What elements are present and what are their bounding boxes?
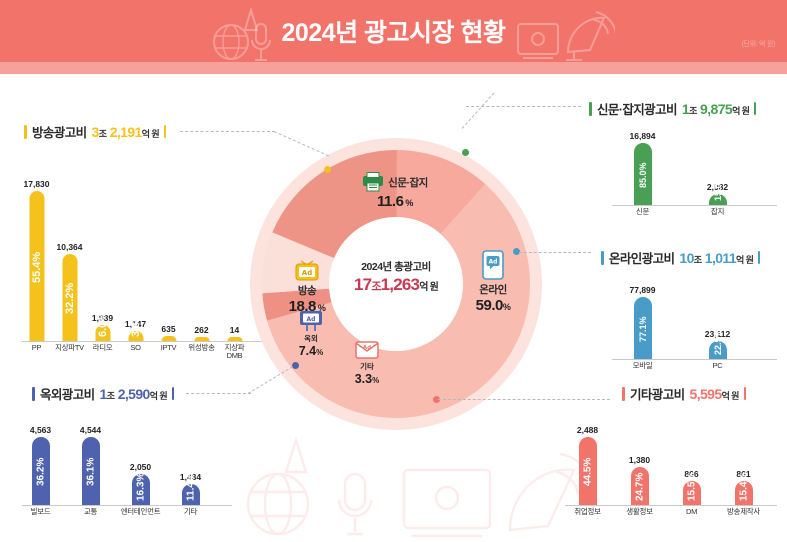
press-pct-value: 11.6 [377, 193, 403, 210]
chart-axis [565, 505, 777, 506]
chart-axis [22, 341, 262, 342]
bar-category-label: SO [130, 344, 140, 352]
bar-pct-label: 15.5% [686, 487, 697, 501]
donut-center-value: 17조1,263억 원 [329, 275, 463, 295]
donut-label-broadcast-name: 방송 [268, 283, 346, 298]
bar-category-label: PC [713, 362, 723, 370]
bar-category-label: 엔터테인먼트 [121, 508, 161, 516]
donut-label-broadcast: Ad 방송 18.8 % [268, 258, 346, 315]
press-amount-main: 1 [682, 101, 689, 117]
bar-category-label: 라디오 [93, 344, 113, 352]
bar-pct-label: 16.3% [135, 480, 146, 501]
accent-bar-etc [622, 387, 625, 401]
bar-column[interactable]: 1,43411.4%기타 [190, 414, 191, 519]
donut-label-outdoor-pct: 7.4% [280, 344, 342, 358]
broadcast-amount-rest: 2,191 [110, 124, 142, 140]
leader-broadcast-h [180, 131, 275, 132]
etc-title-text: 기타광고비 [630, 384, 685, 403]
bar-category-label: 지상파DMB [225, 344, 245, 360]
bar-category-label: PP [32, 344, 41, 352]
bar-column[interactable]: 4,56336.2%빌보드 [40, 414, 41, 519]
section-title-online: 온라인광고비 10조 1,011억 원 [601, 248, 760, 267]
press-amount-rest: 9,875 [700, 101, 732, 117]
accent-bar-outdoor [32, 387, 35, 401]
connector-dot-press [462, 149, 469, 156]
billboard-ad-icon: Ad [299, 310, 323, 332]
outdoor-title-text: 옥외광고비 [40, 384, 95, 403]
bar-category-label: 위성방송 [188, 344, 214, 352]
bar-category-label: 기타 [184, 508, 197, 516]
accent-endbar-etc [744, 387, 746, 400]
bar-value-label: 17,830 [24, 179, 50, 189]
bar-value-label: 4,563 [30, 425, 51, 435]
bar-pct-label: 85.0% [638, 149, 648, 201]
bar-category-label: DM [686, 508, 697, 516]
bar-pct-label: 36.1% [85, 443, 96, 501]
accent-bar-press [589, 102, 592, 116]
outdoor-pct-value: 7.4 [299, 344, 316, 358]
donut-center-label: 2024년 총광고비 [329, 259, 463, 274]
section-title-etc: 기타광고비 5,595억 원 [622, 384, 746, 403]
bar-column[interactable]: 2,98215.0%잡지 [717, 124, 718, 219]
accent-bar-broadcast [24, 125, 27, 139]
bar-category-label: IPTV [161, 344, 176, 352]
etc-amount-rest: 5,595 [690, 386, 722, 402]
bar-pct-label: 44.5% [582, 443, 593, 501]
page-title: 2024년 광고시장 현황 [0, 13, 787, 49]
online-amount-jo: 조 [694, 255, 702, 265]
bar-category-label: 빌보드 [31, 508, 51, 516]
header-accent-band [0, 62, 787, 74]
bar-rect[interactable] [194, 337, 209, 341]
connector-dot-outdoor [292, 362, 299, 369]
leader-online-h [519, 252, 591, 253]
chart-axis [22, 505, 232, 506]
bar-category-label: 신문 [636, 208, 649, 216]
press-title-text: 신문·잡지광고비 [597, 99, 677, 118]
bar-column[interactable]: 10,36432.2%지상파TV [69, 160, 70, 355]
leader-press-diag [462, 92, 495, 128]
donut-label-online-name: 온라인 [454, 282, 532, 297]
chart-outdoor: 4,56336.2%빌보드4,54436.1%교통2,05016.3%엔터테인먼… [22, 414, 232, 519]
press-amount-unit: 억 원 [732, 106, 749, 116]
bar-column[interactable]: 262위성방송 [201, 160, 202, 355]
bar-value-label: 635 [161, 324, 175, 334]
bar-pct-label: 32.2% [64, 260, 76, 337]
online-amount-rest: 1,011 [705, 250, 736, 266]
tv-ad-icon: Ad [294, 258, 320, 282]
donut-center: 2024년 총광고비 17조1,263억 원 [329, 217, 463, 351]
bar-value-label: 1,380 [629, 455, 650, 465]
donut-label-outdoor: Ad 옥외 7.4% [280, 310, 342, 358]
donut-value-jo: 조 [371, 281, 380, 293]
broadcast-amount-main: 3 [92, 124, 99, 140]
bar-value-label: 16,894 [630, 131, 656, 141]
online-pct-value: 59.0 [476, 297, 503, 314]
bar-pct-label: 15.4% [738, 487, 749, 501]
chart-axis [612, 205, 777, 206]
etc-amount-unit: 억 원 [722, 391, 739, 401]
bar-column[interactable]: 86615.5%DM [691, 414, 692, 519]
bar-column[interactable]: 1,38024.7%생활정보 [639, 414, 640, 519]
donut-label-outdoor-name: 옥외 [280, 333, 342, 344]
broadcast-title-text: 방송광고비 [32, 122, 87, 141]
chart-etc: 2,48844.5%취업정보1,38024.7%생활정보86615.5%DM86… [565, 414, 777, 519]
bar-value-label: 262 [194, 325, 208, 335]
unit-note: (단위: 억 원) [741, 39, 775, 49]
online-amount-unit: 억 원 [736, 255, 753, 265]
printer-ad-icon [362, 172, 384, 192]
broadcast-amount-jo: 조 [99, 129, 107, 139]
bar-column[interactable]: 6352.0%IPTV [168, 160, 169, 355]
donut-label-press: 신문·잡지 11.6 % [330, 172, 460, 210]
accent-endbar-online [758, 251, 760, 264]
accent-endbar-broadcast [164, 125, 166, 138]
bar-value-label: 2,050 [130, 462, 151, 472]
online-amount-main: 10 [679, 250, 693, 266]
bar-column[interactable]: 1,9396.0%라디오 [102, 160, 103, 355]
bar-column[interactable]: 2,48844.5%취업정보 [587, 414, 588, 519]
chart-axis [612, 359, 777, 360]
etc-pct-value: 3.3 [355, 372, 372, 386]
outdoor-amount-unit: 억 원 [150, 391, 167, 401]
bar-column[interactable]: 77,89977.1%모바일 [642, 278, 643, 373]
bar-category-label: 교통 [84, 508, 97, 516]
bar-pct-label: 24.7% [634, 473, 645, 501]
donut-value-rest: 1,263 [381, 275, 420, 294]
bar-value-label: 14 [230, 325, 239, 335]
donut-label-etc-pct: 3.3% [338, 372, 396, 386]
svg-text:Ad: Ad [489, 259, 498, 266]
bar-column[interactable]: 1,1473.6%SO [135, 160, 136, 355]
bar-column[interactable]: 17,83055.4%PP [36, 160, 37, 355]
online-title-text: 온라인광고비 [609, 248, 674, 267]
broadcast-amount-unit: 억 원 [142, 129, 159, 139]
bar-value-label: 77,899 [630, 285, 656, 295]
bar-pct-label: 6.0% [97, 331, 109, 337]
chart-press: 16,89485.0%신문2,98215.0%잡지 [612, 124, 777, 219]
page-header: 2024년 광고시장 현황 (단위: 억 원) [0, 0, 787, 62]
donut-label-online: Ad 온라인 59.0% [454, 250, 532, 314]
bar-rect[interactable] [227, 337, 242, 341]
bar-pct-label: 36.2% [35, 443, 46, 501]
bar-value-label: 4,544 [80, 425, 101, 435]
donut-label-etc: Ad 기타 3.3% [338, 340, 396, 386]
bar-column[interactable]: 16,89485.0%신문 [642, 124, 643, 219]
donut-label-online-pct: 59.0% [454, 297, 532, 314]
bar-column[interactable]: 14지상파DMB [234, 160, 235, 355]
bar-pct-label: 77.1% [638, 303, 648, 355]
leader-press-h [466, 106, 581, 107]
connector-dot-broadcast [324, 166, 331, 173]
bar-value-label: 2,488 [577, 425, 598, 435]
leader-etc-h [438, 399, 610, 400]
leader-outdoor-h [186, 393, 251, 394]
mail-ad-icon: Ad [355, 340, 379, 360]
outdoor-amount-jo: 조 [107, 391, 115, 401]
section-title-press: 신문·잡지광고비 1조 9,875억 원 [589, 99, 756, 118]
svg-text:Ad: Ad [302, 269, 312, 277]
donut-chart-total: 2024년 총광고비 17조1,263억 원 신문·잡지 11.6 % Ad 방… [262, 150, 530, 418]
mobile-ad-icon: Ad [482, 250, 504, 280]
press-amount-jo: 조 [689, 106, 697, 116]
chart-broadcast: 17,83055.4%PP10,36432.2%지상파TV1,9396.0%라디… [22, 160, 262, 355]
bar-category-label: 취업정보 [574, 508, 600, 516]
bar-column[interactable]: 2,05016.3%엔터테인먼트 [140, 414, 141, 519]
bar-category-label: 잡지 [711, 208, 724, 216]
bar-pct-label: 55.4% [31, 197, 43, 337]
donut-value-main: 17 [354, 275, 371, 294]
section-title-outdoor: 옥외광고비 1조 2,590억 원 [32, 384, 174, 403]
bar-category-label: 지상파TV [55, 344, 84, 352]
bar-category-label: 방송제작사 [727, 508, 760, 516]
bar-column[interactable]: 86115.4%방송제작사 [743, 414, 744, 519]
bar-category-label: 모바일 [633, 362, 653, 370]
bar-pct-label: 11.4% [185, 490, 196, 501]
outdoor-amount-main: 1 [100, 386, 107, 402]
accent-endbar-outdoor [172, 387, 174, 400]
outdoor-amount-rest: 2,590 [118, 386, 150, 402]
accent-bar-online [601, 251, 604, 265]
donut-value-unit: 억 원 [419, 282, 438, 293]
accent-endbar-press [754, 102, 756, 115]
bar-column[interactable]: 23,11222.9%PC [717, 278, 718, 373]
svg-text:Ad: Ad [307, 316, 316, 323]
donut-label-press-pct: 11.6 % [330, 193, 460, 210]
section-title-broadcast: 방송광고비 3조 2,191억 원 [24, 122, 166, 141]
bar-value-label: 10,364 [57, 242, 83, 252]
bar-column[interactable]: 4,54436.1%교통 [90, 414, 91, 519]
bar-category-label: 생활정보 [626, 508, 652, 516]
donut-label-etc-name: 기타 [338, 361, 396, 372]
bar-rect[interactable] [161, 336, 176, 341]
svg-text:Ad: Ad [363, 345, 371, 351]
chart-online: 77,89977.1%모바일23,11222.9%PC [612, 278, 777, 373]
bar-pct-label: 22.9% [713, 347, 723, 355]
bar-pct-label: 15.0% [713, 200, 723, 201]
donut-label-press-name: 신문·잡지 [388, 175, 428, 190]
